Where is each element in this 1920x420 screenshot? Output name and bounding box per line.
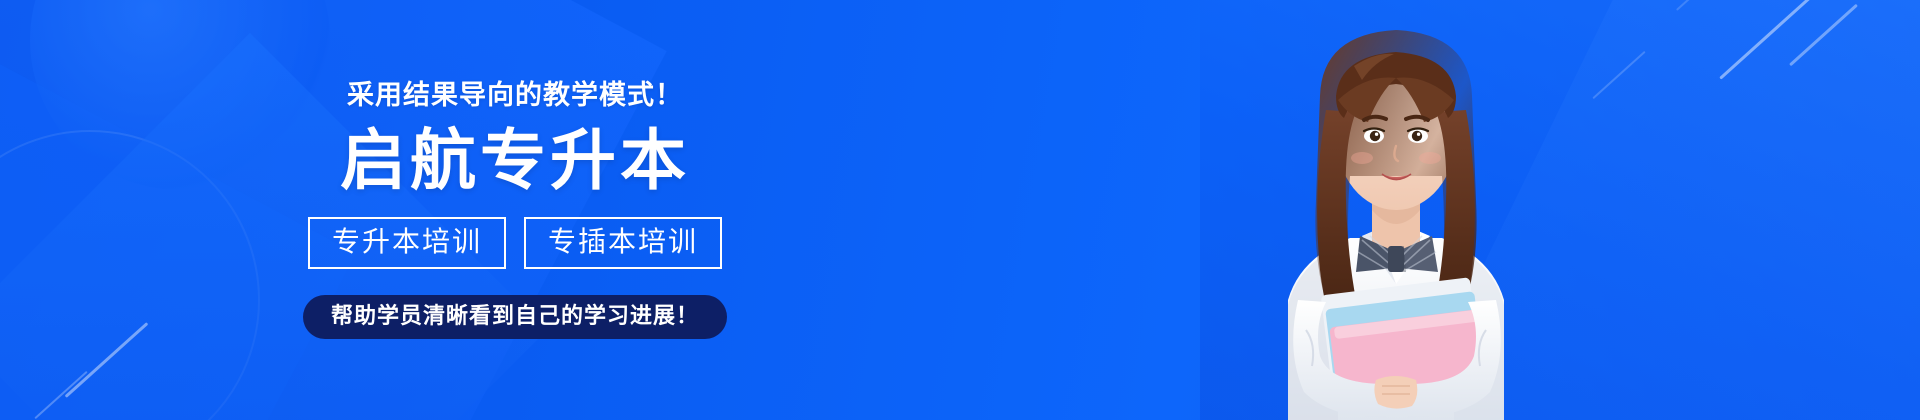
course-button-zhuanshengben[interactable]: 专升本培训 xyxy=(308,217,506,269)
student-photo xyxy=(1180,0,1610,420)
banner-tagline: 采用结果导向的教学模式！ xyxy=(347,82,683,109)
banner-title: 启航专升本 xyxy=(340,127,690,193)
banner-content: 采用结果导向的教学模式！ 启航专升本 专升本培训 专插本培训 帮助学员清晰看到自… xyxy=(0,0,1000,420)
course-button-zhuanchaben[interactable]: 专插本培训 xyxy=(524,217,722,269)
promo-banner: 采用结果导向的教学模式！ 启航专升本 专升本培训 专插本培训 帮助学员清晰看到自… xyxy=(0,0,1920,420)
banner-highlight-pill: 帮助学员清晰看到自己的学习进展！ xyxy=(303,295,727,339)
banner-button-row: 专升本培训 专插本培训 xyxy=(308,217,722,269)
